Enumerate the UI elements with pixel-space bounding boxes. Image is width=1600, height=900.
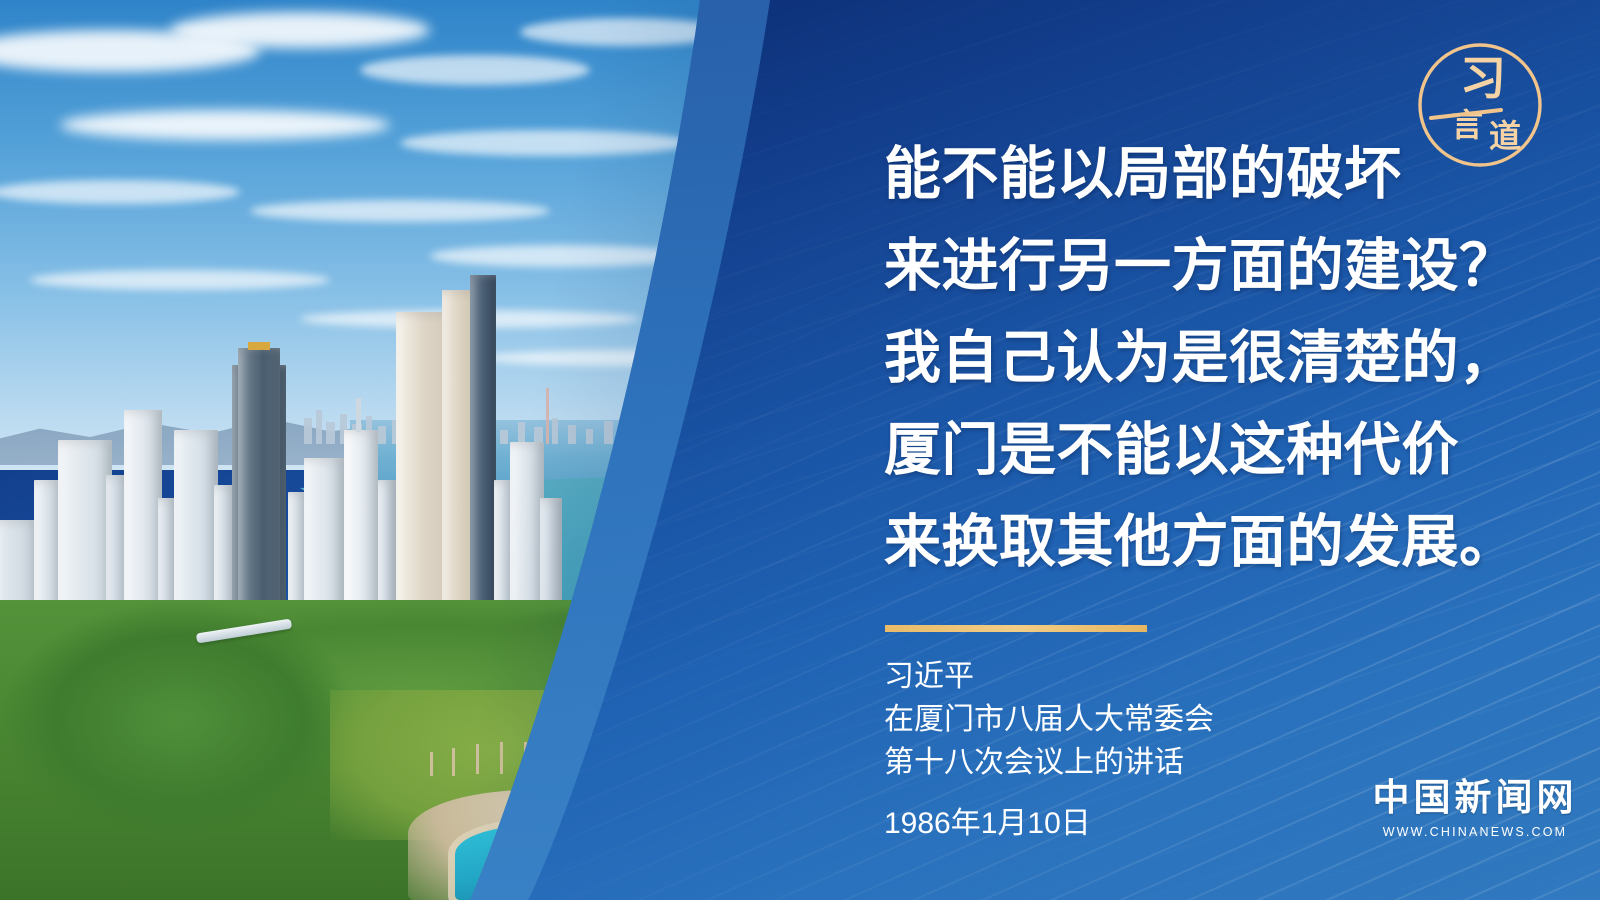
seal-char-xi: 习 (1460, 53, 1506, 104)
occasion-line-1: 在厦门市八届人大常委会 (884, 698, 1304, 741)
quote-line-3: 我自己认为是很清楚的， (884, 312, 1444, 404)
seal-char-dao: 道 (1489, 118, 1521, 154)
speech-date: 1986年1月10日 (884, 802, 1304, 845)
poster-canvas: 习 言 道 能不能以局部的破坏 来进行另一方面的建设？ 我自己认为是很清楚的， … (0, 0, 1600, 900)
gold-divider-rule (885, 625, 1147, 632)
quote-line-2: 来进行另一方面的建设？ (884, 220, 1444, 312)
occasion-line-2: 第十八次会议上的讲话 (884, 741, 1304, 784)
chinanews-logo[interactable]: 中国新闻网 WWW.CHINANEWS.COM (1368, 778, 1582, 839)
quote-line-4: 厦门是不能以这种代价 (884, 404, 1444, 496)
quote-block: 能不能以局部的破坏 来进行另一方面的建设？ 我自己认为是很清楚的， 厦门是不能以… (884, 128, 1444, 588)
quote-line-5: 来换取其他方面的发展。 (884, 496, 1444, 588)
speaker-name: 习近平 (884, 655, 1304, 698)
publisher-name: 中国新闻网 (1368, 778, 1582, 820)
publisher-url: WWW.CHINANEWS.COM (1368, 825, 1582, 839)
quote-line-1: 能不能以局部的破坏 (884, 128, 1444, 220)
attribution-block: 习近平 在厦门市八届人大常委会 第十八次会议上的讲话 1986年1月10日 (884, 655, 1304, 845)
